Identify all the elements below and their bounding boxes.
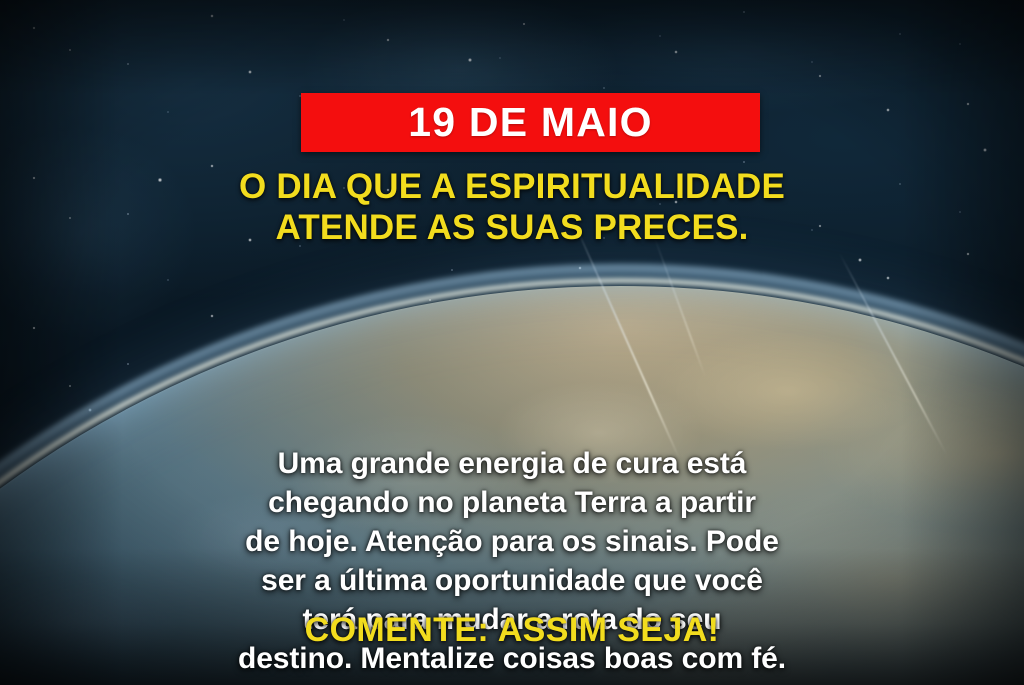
body-line: de hoje. Atenção para os sinais. Pode — [54, 522, 970, 561]
headline-line-2: ATENDE AS SUAS PRECES. — [24, 207, 1000, 248]
body-line: chegando no planeta Terra a partir — [54, 483, 970, 522]
date-banner-label: 19 DE MAIO — [408, 102, 652, 143]
headline-line-1: O DIA QUE A ESPIRITUALIDADE — [239, 167, 785, 206]
poster-content: 19 DE MAIO O DIA QUE A ESPIRITUALIDADE A… — [0, 0, 1024, 685]
call-to-action-label: COMENTE: ASSIM SEJA! — [305, 611, 720, 649]
poster-canvas: 19 DE MAIO O DIA QUE A ESPIRITUALIDADE A… — [0, 0, 1024, 685]
call-to-action: COMENTE: ASSIM SEJA! — [0, 613, 1024, 647]
body-line: Uma grande energia de cura está — [54, 444, 970, 483]
date-banner: 19 DE MAIO — [301, 93, 760, 152]
body-line: ser a última oportunidade que você — [54, 561, 970, 600]
headline: O DIA QUE A ESPIRITUALIDADE ATENDE AS SU… — [0, 166, 1024, 249]
